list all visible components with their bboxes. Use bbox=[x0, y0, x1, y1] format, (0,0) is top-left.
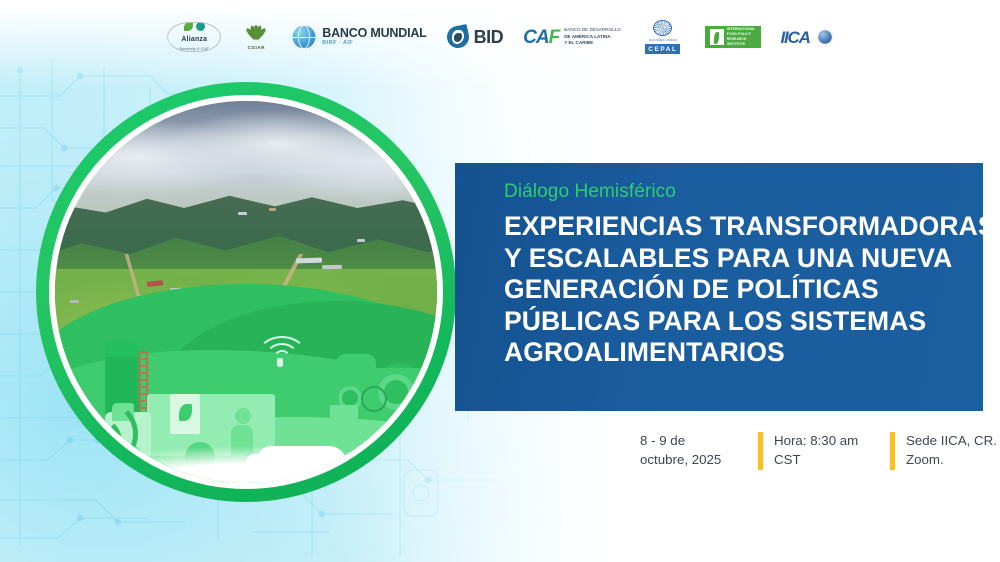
hero-circle bbox=[36, 82, 456, 502]
illus-silo-cap bbox=[105, 339, 139, 357]
panel-headline: EXPERIENCIAS TRANSFORMADORAS Y ESCALABLE… bbox=[504, 211, 967, 369]
meta-time-text: Hora: 8:30 am CST bbox=[774, 432, 890, 470]
logo-caf: CAF BANCO DE DESARROLLO DE AMÉRICA LATIN… bbox=[523, 20, 621, 54]
illus-wifi-icon bbox=[257, 336, 303, 366]
headline-line-4: PÚBLICAS PARA LOS SISTEMAS bbox=[504, 306, 967, 338]
headline-line-3: GENERACIÓN DE POLÍTICAS bbox=[504, 274, 967, 306]
iica-globe-icon bbox=[817, 29, 833, 45]
logo-bid-line1: BID bbox=[474, 28, 504, 46]
logo-ifpri-text: INTERNATIONAL FOOD POLICY RESEARCH INSTI… bbox=[727, 27, 756, 47]
logo-caf-line1: CAF bbox=[523, 28, 559, 47]
logo-caf-line2: BANCO DE DESARROLLO bbox=[564, 27, 621, 32]
hero-photo-landscape bbox=[55, 101, 437, 483]
logo-cepal-line2: CEPAL bbox=[645, 44, 680, 54]
logo-alianza-bioversity-ciat: Alianza Bioversity & CIAT bbox=[167, 22, 221, 52]
bid-swoosh-icon bbox=[447, 26, 469, 48]
globe-icon bbox=[291, 24, 317, 50]
logo-ifpri: INTERNATIONAL FOOD POLICY RESEARCH INSTI… bbox=[705, 20, 761, 54]
logo-ifpri-line2: FOOD POLICY bbox=[727, 32, 751, 36]
photo-wifi-icon bbox=[70, 412, 132, 468]
illus-cow-leg-2 bbox=[288, 398, 293, 410]
united-nations-emblem-icon bbox=[653, 20, 672, 36]
headline-panel: Diálogo Hemisférico EXPERIENCIAS TRANSFO… bbox=[455, 163, 983, 411]
logo-bid: BID bbox=[447, 20, 504, 54]
headline-line-2: Y ESCALABLES PARA UNA NUEVA bbox=[504, 243, 967, 275]
logo-caf-subtitle: BANCO DE DESARROLLO DE AMÉRICA LATINA Y … bbox=[564, 27, 621, 47]
logo-cgiar: CGIAR bbox=[241, 20, 271, 54]
alianza-swoosh-icon bbox=[167, 22, 221, 52]
meta-date-text: 8 - 9 de octubre, 2025 bbox=[640, 432, 758, 470]
logo-ifpri-line1: INTERNATIONAL bbox=[727, 27, 756, 31]
logo-banco-mundial-line1: BANCO MUNDIAL bbox=[322, 27, 426, 40]
meta-divider-1 bbox=[758, 432, 763, 470]
event-meta-row: 8 - 9 de octubre, 2025 Hora: 8:30 am CST… bbox=[640, 432, 997, 470]
meta-time: Hora: 8:30 am CST bbox=[758, 432, 890, 470]
logo-caf-line3: DE AMÉRICA LATINA bbox=[564, 34, 611, 39]
meta-venue: Sede IICA, CR. Zoom. bbox=[890, 432, 997, 470]
meta-date: 8 - 9 de octubre, 2025 bbox=[640, 432, 758, 470]
logo-banco-mundial: BANCO MUNDIAL BIRF · AIF bbox=[291, 20, 426, 54]
ifpri-leaf-icon bbox=[710, 29, 724, 45]
logo-cepal-line1: NACIONES UNIDAS bbox=[649, 38, 677, 42]
logo-ifpri-line3: RESEARCH bbox=[727, 37, 747, 41]
illus-cow-head bbox=[296, 370, 312, 383]
headline-line-5: AGROALIMENTARIOS bbox=[504, 337, 967, 369]
cgiar-leaf-icon bbox=[245, 20, 267, 39]
logo-iica: IICA bbox=[781, 20, 833, 54]
logo-iica-line1: IICA bbox=[781, 29, 810, 46]
panel-eyebrow: Diálogo Hemisférico bbox=[504, 181, 967, 203]
partner-logo-strip: Alianza Bioversity & CIAT CGIAR BANCO MU… bbox=[0, 14, 1000, 60]
headline-line-1: EXPERIENCIAS TRANSFORMADORAS bbox=[504, 211, 967, 243]
logo-cgiar-line1: CGIAR bbox=[248, 45, 265, 50]
meta-divider-2 bbox=[890, 432, 895, 470]
logo-banco-mundial-line2: BIRF · AIF bbox=[322, 41, 426, 47]
logo-cepal: NACIONES UNIDAS CEPAL bbox=[641, 20, 685, 54]
logo-ifpri-line4: INSTITUTE bbox=[727, 42, 745, 46]
logo-caf-line4: Y EL CARIBE bbox=[564, 40, 593, 45]
meta-venue-text: Sede IICA, CR. Zoom. bbox=[906, 432, 997, 470]
poster-canvas: Alianza Bioversity & CIAT CGIAR BANCO MU… bbox=[0, 0, 1000, 562]
